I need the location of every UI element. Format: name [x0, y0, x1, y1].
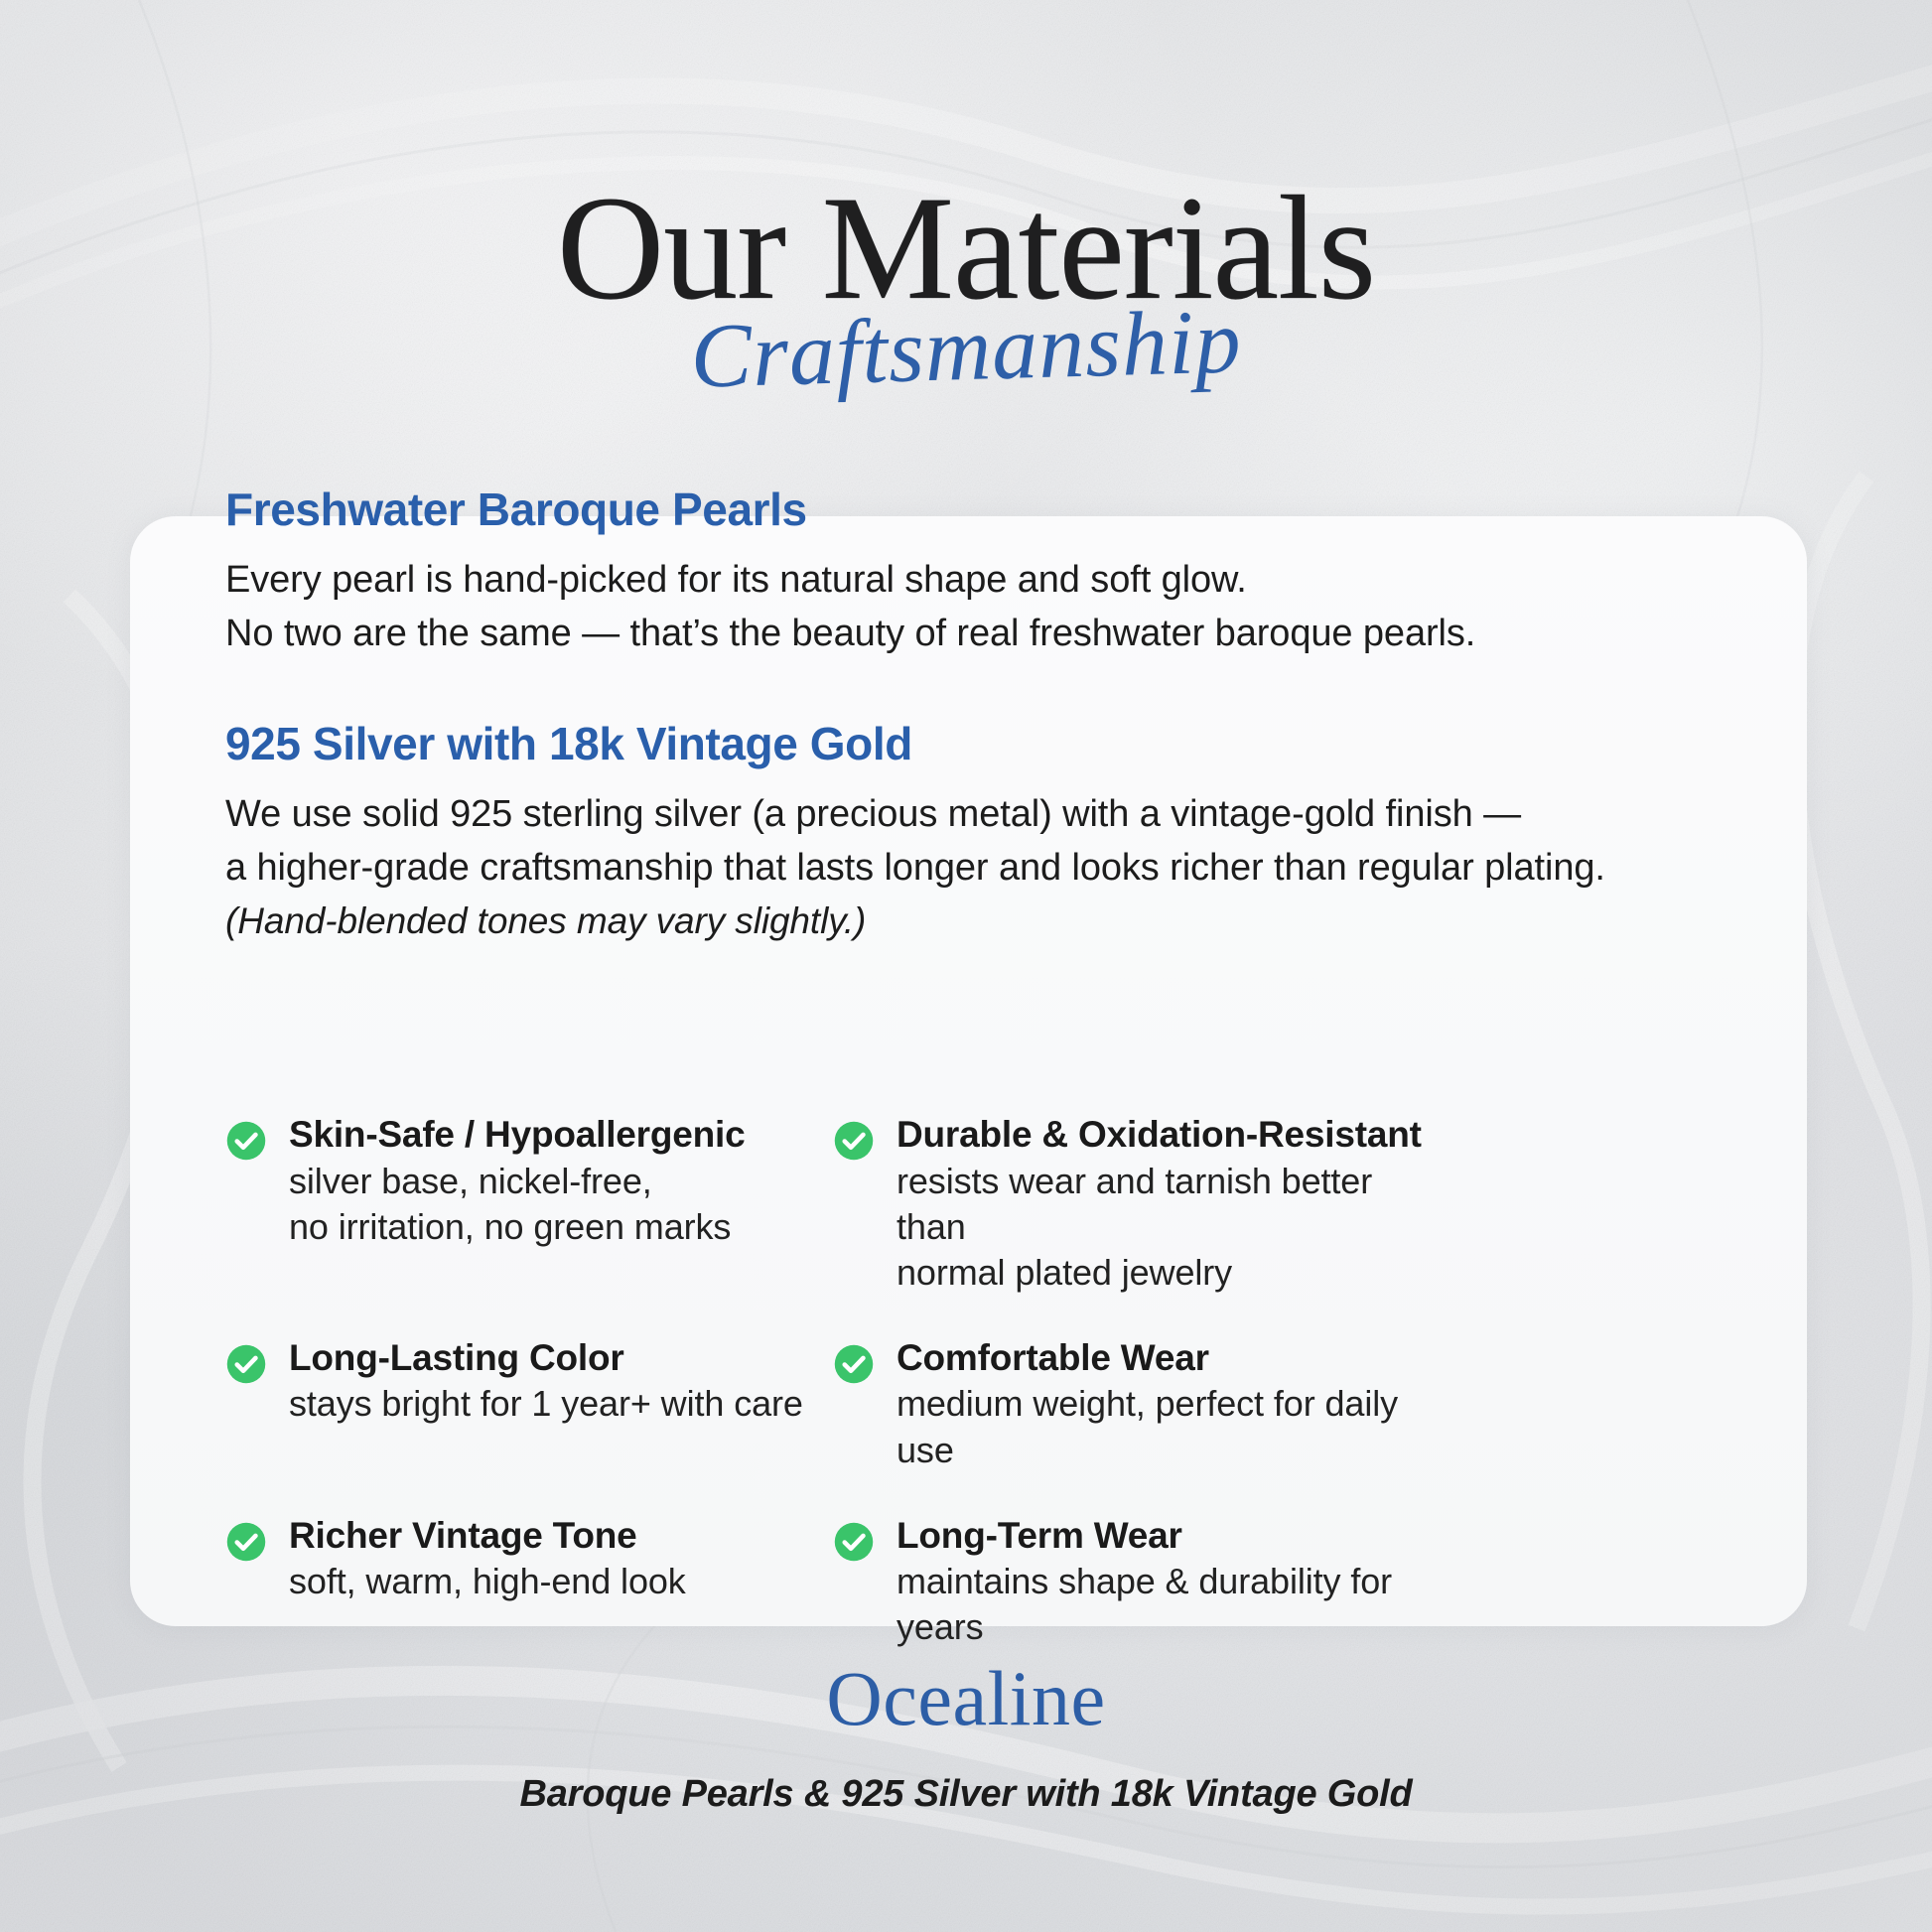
- feature-description: medium weight, perfect for daily use: [897, 1381, 1441, 1472]
- feature-item: Skin-Safe / Hypoallergenic silver base, …: [225, 1112, 833, 1296]
- check-circle-icon: [225, 1120, 267, 1162]
- feature-description: soft, warm, high-end look: [289, 1559, 686, 1604]
- feature-title: Skin-Safe / Hypoallergenic: [289, 1114, 746, 1155]
- check-circle-icon: [225, 1343, 267, 1385]
- feature-title: Comfortable Wear: [897, 1337, 1209, 1378]
- section-heading: 925 Silver with 18k Vintage Gold: [225, 719, 912, 769]
- section-body: We use solid 925 sterling silver (a prec…: [225, 788, 1605, 947]
- section-body-text: We use solid 925 sterling silver (a prec…: [225, 793, 1605, 889]
- brand-tagline: Baroque Pearls & 925 Silver with 18k Vin…: [0, 1773, 1932, 1816]
- section-heading: Freshwater Baroque Pearls: [225, 484, 807, 535]
- feature-title: Long-Lasting Color: [289, 1337, 624, 1378]
- feature-text: Long-Lasting Color stays bright for 1 ye…: [289, 1335, 803, 1428]
- poster-footer: Ocealine Baroque Pearls & 925 Silver wit…: [0, 1660, 1932, 1816]
- feature-item: Long-Term Wear maintains shape & durabil…: [833, 1513, 1441, 1651]
- feature-text: Long-Term Wear maintains shape & durabil…: [897, 1513, 1441, 1651]
- content-card: Freshwater Baroque Pearls Every pearl is…: [130, 516, 1807, 1626]
- feature-text: Richer Vintage Tone soft, warm, high-end…: [289, 1513, 686, 1605]
- feature-item: Richer Vintage Tone soft, warm, high-end…: [225, 1513, 833, 1651]
- feature-grid: Skin-Safe / Hypoallergenic silver base, …: [225, 1112, 1754, 1650]
- check-circle-icon: [833, 1343, 875, 1385]
- feature-description: resists wear and tarnish better than nor…: [897, 1159, 1441, 1296]
- feature-title: Long-Term Wear: [897, 1515, 1182, 1556]
- brand-name: Ocealine: [0, 1660, 1932, 1737]
- feature-title: Richer Vintage Tone: [289, 1515, 637, 1556]
- section-body: Every pearl is hand-picked for its natur…: [225, 554, 1475, 661]
- poster-header: Our Materials Craftsmanship: [0, 0, 1932, 496]
- feature-description: silver base, nickel-free, no irritation,…: [289, 1159, 746, 1250]
- check-circle-icon: [225, 1521, 267, 1563]
- check-circle-icon: [833, 1521, 875, 1563]
- feature-text: Comfortable Wear medium weight, perfect …: [897, 1335, 1441, 1473]
- check-circle-icon: [833, 1120, 875, 1162]
- feature-item: Long-Lasting Color stays bright for 1 ye…: [225, 1335, 833, 1473]
- section-note: (Hand-blended tones may vary slightly.): [225, 896, 1605, 948]
- feature-description: maintains shape & durability for years: [897, 1559, 1441, 1650]
- content-card-inner: Freshwater Baroque Pearls Every pearl is…: [225, 516, 1747, 1626]
- feature-item: Comfortable Wear medium weight, perfect …: [833, 1335, 1441, 1473]
- feature-title: Durable & Oxidation-Resistant: [897, 1114, 1422, 1155]
- feature-text: Durable & Oxidation-Resistant resists we…: [897, 1112, 1441, 1296]
- feature-description: stays bright for 1 year+ with care: [289, 1381, 803, 1427]
- poster-canvas: Our Materials Craftsmanship Freshwater B…: [0, 0, 1932, 1932]
- feature-text: Skin-Safe / Hypoallergenic silver base, …: [289, 1112, 746, 1250]
- feature-item: Durable & Oxidation-Resistant resists we…: [833, 1112, 1441, 1296]
